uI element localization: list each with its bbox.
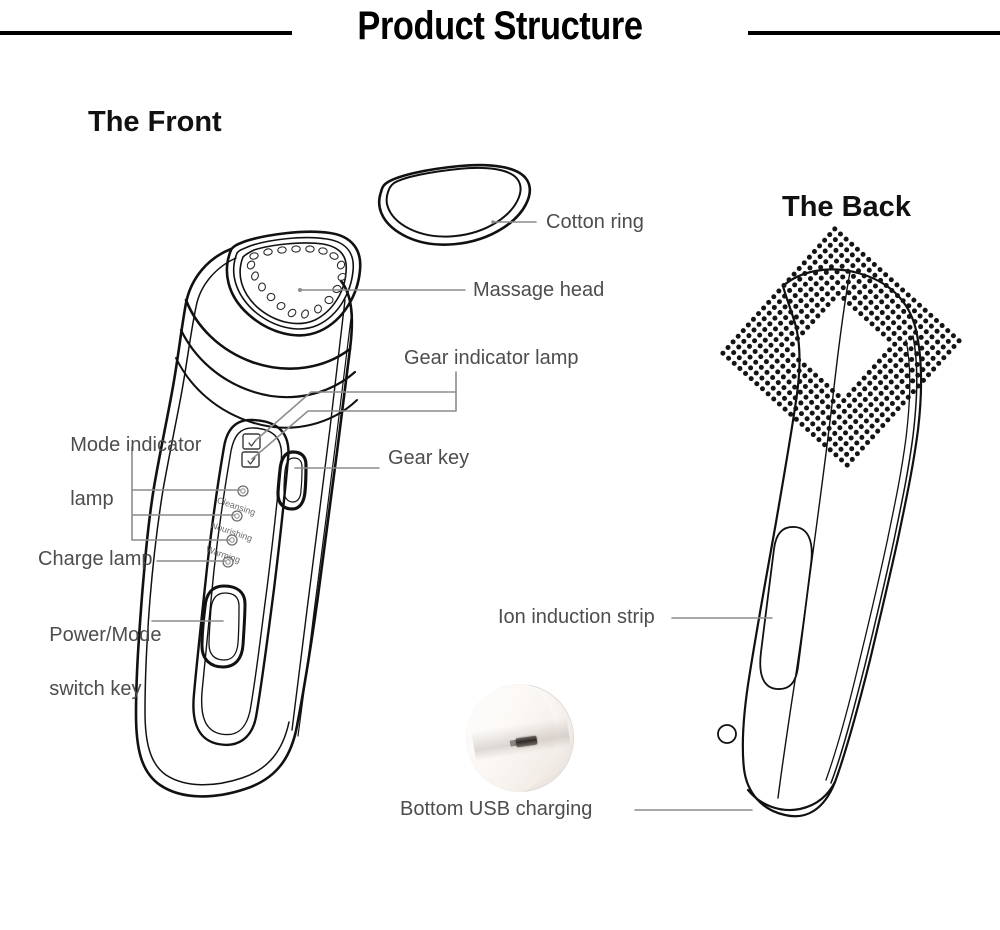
callout-gear-key: Gear key xyxy=(388,445,469,472)
front-control-track-outer xyxy=(193,420,288,745)
front-head-collar-3 xyxy=(176,358,357,428)
mode-lamp-cleansing xyxy=(238,486,248,496)
front-right-seam-2 xyxy=(298,310,352,736)
callout-bottom-usb-charging: Bottom USB charging xyxy=(400,796,592,823)
back-small-circle xyxy=(718,725,736,743)
massage-head-led-ring xyxy=(246,246,347,319)
bottom-usb-photo-inset xyxy=(466,684,574,792)
ion-induction-strip xyxy=(760,527,812,689)
callout-cotton-ring: Cotton ring xyxy=(546,209,644,236)
callout-mode-indicator-lamp-line1: Mode indicator xyxy=(70,434,201,456)
front-head-collar-1 xyxy=(186,300,350,369)
callout-gear-indicator-lamp: Gear indicator lamp xyxy=(404,345,579,372)
leader-lines xyxy=(132,220,772,810)
callout-massage-head: Massage head xyxy=(473,277,604,304)
callout-power-mode-switch-key: Power/Mode switch key xyxy=(27,595,162,730)
callout-power-mode-switch-line1: Power/Mode xyxy=(49,624,161,646)
callout-mode-indicator-lamp-line2: lamp xyxy=(70,488,113,510)
cotton-ring-outer xyxy=(379,165,530,245)
back-body-outline xyxy=(743,269,921,816)
front-control-track-inner xyxy=(202,428,282,735)
callout-charge-lamp: Charge lamp xyxy=(38,546,153,573)
cotton-ring-inner xyxy=(387,168,521,237)
callout-power-mode-switch-line2: switch key xyxy=(49,678,141,700)
callout-ion-induction-strip: Ion induction strip xyxy=(498,604,655,631)
gear-indicator-lamp-icon-1 xyxy=(243,434,260,449)
back-bottom-rim xyxy=(748,782,835,810)
product-structure-diagram: Product Structure The Front The Back xyxy=(0,0,1000,930)
ion-induction-dot-panel xyxy=(720,226,961,467)
front-head-collar-2 xyxy=(181,330,355,397)
callout-mode-indicator-lamp: Mode indicator lamp xyxy=(48,405,201,540)
cotton-ring xyxy=(379,165,530,245)
